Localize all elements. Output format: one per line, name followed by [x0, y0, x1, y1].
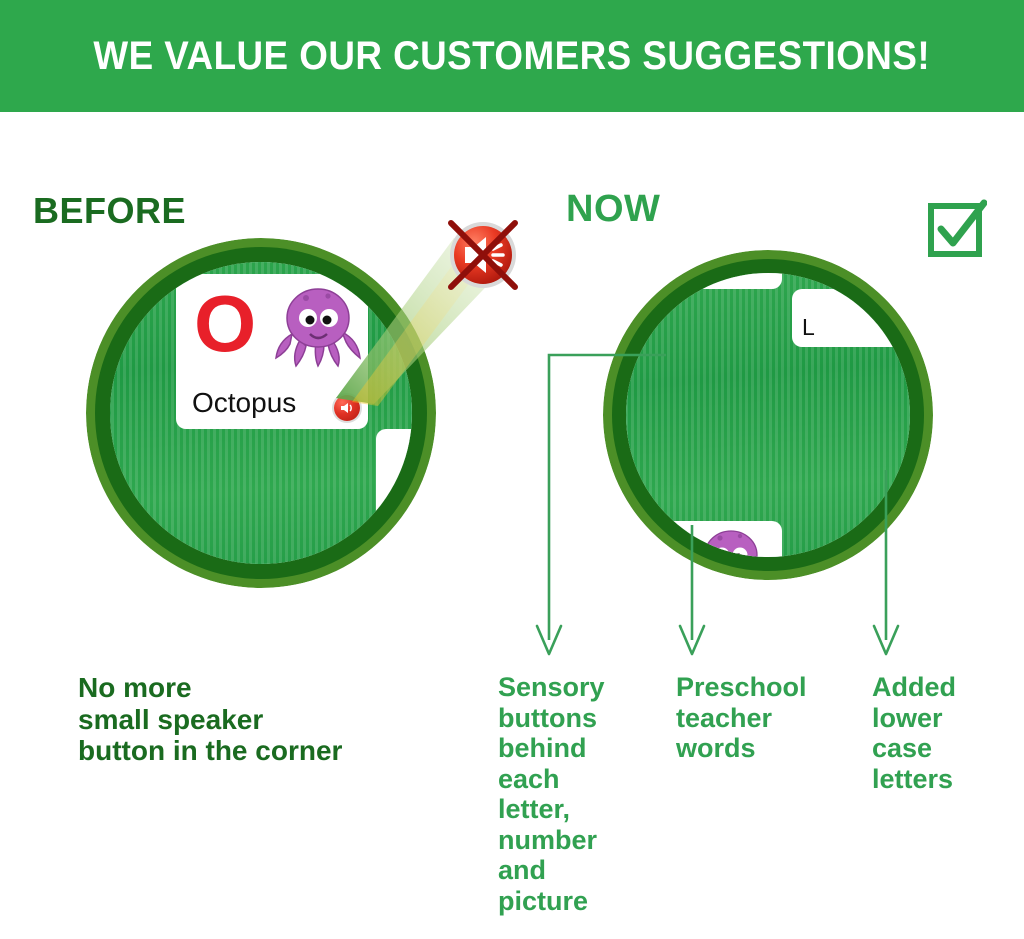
callout-arrows — [480, 330, 960, 670]
muted-speaker-icon — [443, 215, 523, 295]
card-letter: O — [194, 284, 256, 364]
card[interactable]: Pig — [376, 429, 412, 564]
caption-preschool-words: Preschool teacher words — [676, 672, 851, 764]
banner-title: WE VALUE OUR CUSTOMERS SUGGESTIONS! — [94, 34, 931, 79]
check-box-icon — [927, 198, 987, 258]
card[interactable] — [110, 262, 168, 274]
poster-root: WE VALUE OUR CUSTOMERS SUGGESTIONS! BEFO… — [0, 0, 1024, 939]
caption-sensory-buttons: Sensory buttons behind each letter, numb… — [498, 672, 658, 916]
caption-before: No more small speaker button in the corn… — [78, 672, 342, 767]
card-word: Kite — [626, 273, 666, 283]
now-label: NOW — [566, 188, 660, 231]
caption-lower-case: Added lower case letters — [872, 672, 1022, 794]
card[interactable]: Kite — [626, 273, 782, 289]
header-banner: WE VALUE OUR CUSTOMERS SUGGESTIONS! — [0, 0, 1024, 112]
nest-picture — [110, 262, 126, 270]
before-label: BEFORE — [33, 190, 186, 232]
card-word: Octopus — [192, 387, 296, 419]
card-word: Pig — [386, 542, 412, 564]
